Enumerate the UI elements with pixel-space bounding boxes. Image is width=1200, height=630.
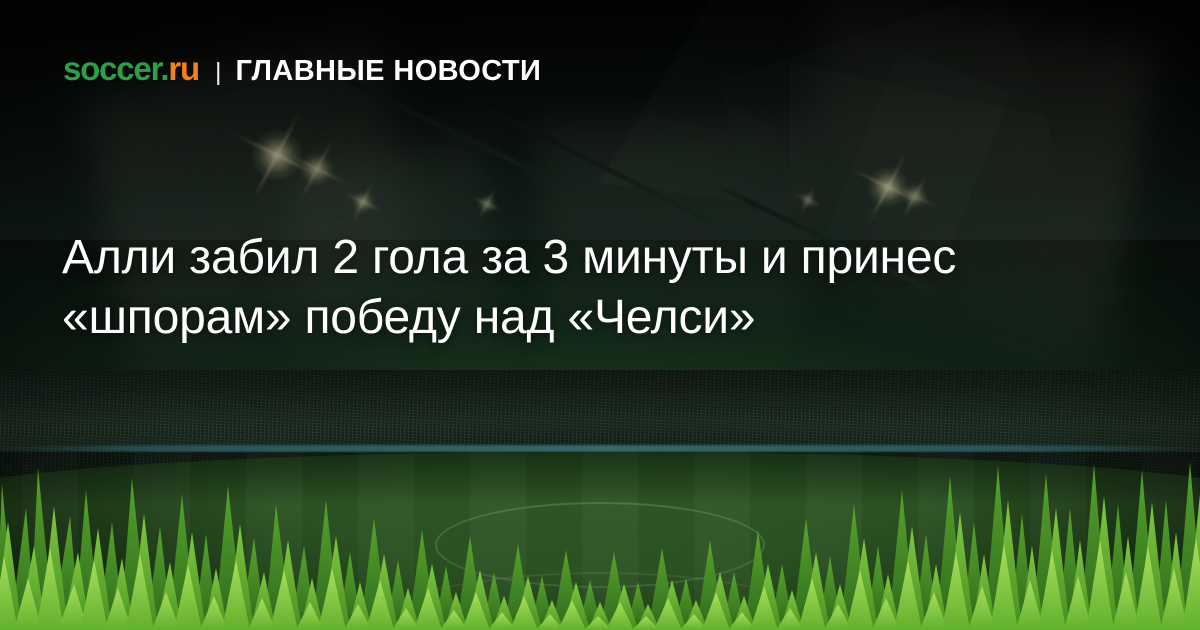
- grass-foreground: [0, 460, 1200, 630]
- brand-header: soccer.ru | ГЛАВНЫЕ НОВОСТИ: [63, 52, 541, 86]
- site-logo[interactable]: soccer.ru: [63, 52, 199, 85]
- social-share-card: soccer.ru | ГЛАВНЫЕ НОВОСТИ Алли забил 2…: [0, 0, 1200, 630]
- logo-word: soccer: [63, 50, 160, 87]
- header-kicker: ГЛАВНЫЕ НОВОСТИ: [235, 57, 541, 86]
- header-separator: |: [215, 60, 222, 85]
- logo-tld: ru: [168, 50, 199, 87]
- page-title: Алли забил 2 гола за 3 минуты и принес «…: [62, 228, 1002, 348]
